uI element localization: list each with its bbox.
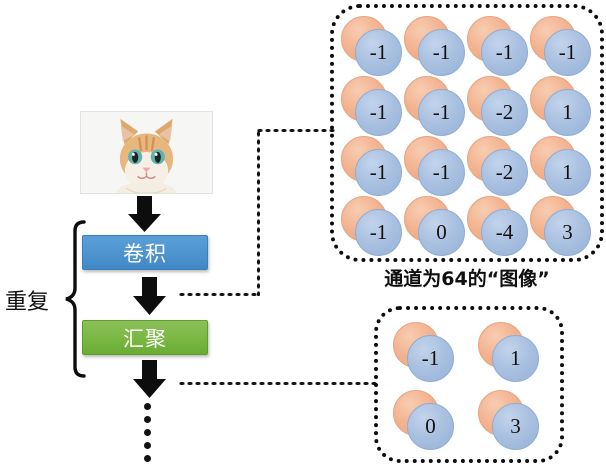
- feature-cell-front-circle: 1: [492, 335, 539, 382]
- ellipsis-dot: [144, 455, 151, 462]
- ellipsis-dot: [144, 442, 151, 449]
- kitten-illustration: [81, 112, 212, 193]
- feature-cell-front-circle: -1: [355, 89, 402, 136]
- ellipsis-dot: [144, 429, 151, 436]
- pipeline-step-pool[interactable]: 汇聚: [82, 320, 208, 355]
- feature-cell-front-circle: -1: [418, 29, 465, 76]
- feature-cell: -2: [467, 136, 529, 196]
- feature-cell: -1: [393, 322, 455, 382]
- feature-map-large-caption: 通道为64的“图像”: [330, 264, 604, 291]
- feature-cell-front-circle: 3: [544, 209, 591, 256]
- feature-cell-front-circle: -1: [407, 335, 454, 382]
- feature-cell-front-circle: -4: [481, 209, 528, 256]
- connector-conv-to-featuremap-v: [256, 130, 261, 296]
- feature-cell-front-circle: 3: [492, 403, 539, 450]
- arrow-image-to-conv: [128, 196, 161, 232]
- input-image-kitten: [80, 111, 213, 194]
- feature-cell: 3: [530, 196, 592, 256]
- vertical-ellipsis-dots: [144, 403, 153, 459]
- feature-cell: -1: [404, 76, 466, 136]
- feature-cell-front-circle: 1: [544, 89, 591, 136]
- feature-cell: -1: [341, 16, 403, 76]
- pipeline-step-pool-label: 汇聚: [123, 323, 167, 353]
- connector-conv-to-featuremap-h1: [178, 292, 260, 297]
- feature-cell: -1: [530, 16, 592, 76]
- connector-conv-to-featuremap-h2: [256, 128, 336, 133]
- feature-cell: -1: [467, 16, 529, 76]
- feature-cell-front-circle: -1: [544, 29, 591, 76]
- feature-cell: 1: [530, 76, 592, 136]
- feature-cell-front-circle: 0: [418, 209, 465, 256]
- feature-cell-front-circle: -1: [418, 149, 465, 196]
- feature-cell-front-circle: -2: [481, 89, 528, 136]
- connector-pool-to-featuremap: [178, 381, 378, 386]
- feature-cell: -1: [404, 16, 466, 76]
- feature-cell-front-circle: 0: [407, 403, 454, 450]
- ellipsis-dot: [144, 416, 151, 423]
- repeat-brace-icon: [58, 220, 86, 378]
- feature-cell-front-circle: -1: [355, 209, 402, 256]
- feature-cell-front-circle: -1: [481, 29, 528, 76]
- feature-cell-front-circle: -1: [418, 89, 465, 136]
- feature-cell: -2: [467, 76, 529, 136]
- feature-cell: 1: [478, 322, 540, 382]
- feature-cell: -1: [341, 136, 403, 196]
- pipeline-step-conv-label: 卷积: [123, 238, 167, 268]
- feature-cell: -4: [467, 196, 529, 256]
- arrow-pool-to-next: [133, 360, 166, 398]
- feature-cell: -1: [341, 76, 403, 136]
- feature-cell-front-circle: -1: [355, 29, 402, 76]
- feature-cell-front-circle: -1: [355, 149, 402, 196]
- pipeline-step-conv[interactable]: 卷积: [82, 235, 208, 270]
- feature-cell: 0: [404, 196, 466, 256]
- repeat-label: 重复: [5, 284, 49, 316]
- arrow-conv-to-pool: [133, 277, 166, 315]
- feature-cell: 1: [530, 136, 592, 196]
- feature-cell: -1: [404, 136, 466, 196]
- feature-cell-front-circle: 1: [544, 149, 591, 196]
- diagram-canvas: 卷积 汇聚 重复 -1-1-1-1-1-1-21-1-1-21-10-43: [0, 0, 606, 471]
- ellipsis-dot: [144, 403, 151, 410]
- feature-cell: 0: [393, 390, 455, 450]
- feature-cell: 3: [478, 390, 540, 450]
- feature-cell-front-circle: -2: [481, 149, 528, 196]
- feature-cell: -1: [341, 196, 403, 256]
